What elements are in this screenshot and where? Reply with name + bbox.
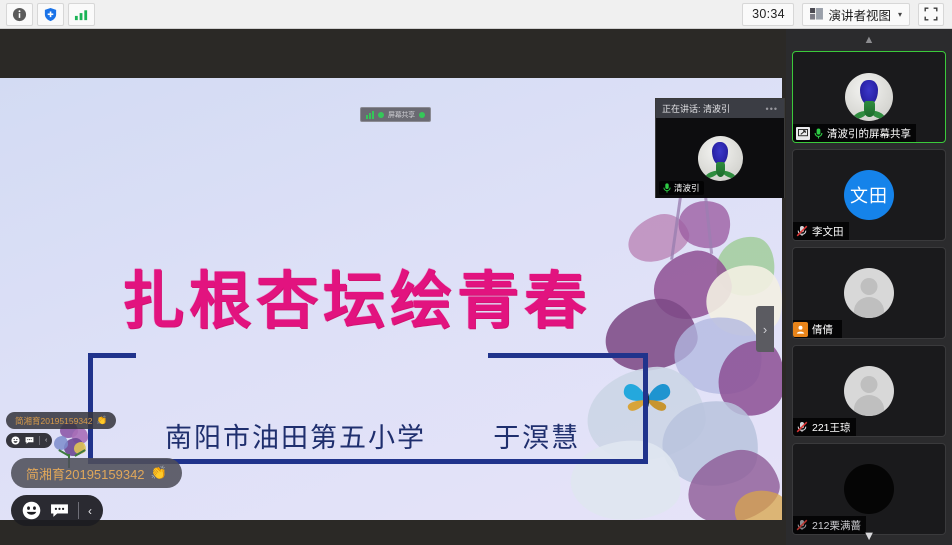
speaker-view-icon: [810, 8, 823, 20]
share-panel-expand-button[interactable]: ›: [756, 306, 774, 352]
collapse-chevron-icon[interactable]: ‹: [45, 437, 47, 444]
pip-speaker-name: 清波引: [674, 182, 700, 194]
hyacinth-photo-avatar: [845, 73, 893, 121]
default-person-avatar: [844, 268, 894, 318]
participant-filmstrip: ▲ 清波引的屏幕共享: [786, 29, 952, 545]
fullscreen-button[interactable]: [918, 3, 944, 26]
view-mode-label: 演讲者视图: [828, 5, 891, 24]
slide-school-name: 南阳市油田第五小学: [165, 423, 426, 454]
toolbar-left-group: [0, 3, 95, 26]
participant-label: 清波引的屏幕共享: [793, 124, 916, 142]
toolbar-right-group: 30:34 演讲者视图 ▾: [742, 3, 952, 26]
smiley-icon[interactable]: [11, 436, 20, 445]
smiley-icon[interactable]: [22, 501, 41, 520]
status-dot-icon: [419, 112, 425, 118]
dark-video-avatar: [844, 464, 894, 514]
chat-bubble-large[interactable]: 简湘育20195159342 👏: [11, 458, 182, 488]
top-toolbar: 30:34 演讲者视图 ▾: [0, 0, 952, 29]
mic-on-icon: [663, 183, 671, 193]
filmstrip-scroll-down-button[interactable]: ▼: [786, 528, 952, 543]
screen-share-icon: [796, 127, 810, 140]
mic-on-icon: [814, 128, 823, 139]
clap-emoji-icon: 👏: [97, 415, 108, 426]
participant-name: 李文田: [812, 224, 844, 239]
meeting-window: 30:34 演讲者视图 ▾: [0, 0, 952, 545]
pip-more-icon[interactable]: •••: [766, 104, 778, 114]
comment-icon[interactable]: [25, 436, 34, 445]
meeting-timer: 30:34: [742, 3, 794, 26]
participant-name: 清波引的屏幕共享: [827, 126, 911, 141]
pip-header: 正在讲话: 清波引 •••: [656, 99, 784, 118]
participant-tile[interactable]: 212栗满蔷: [792, 443, 946, 535]
chat-large-text: 简湘育20195159342: [26, 464, 145, 483]
pip-video-body: 清波引: [656, 118, 784, 198]
speaker-pip-panel[interactable]: 正在讲话: 清波引 ••• 清波引: [655, 98, 785, 198]
fullscreen-icon: [924, 7, 938, 21]
chat-toolbar-small[interactable]: ‹: [6, 433, 52, 448]
participant-label: 李文田: [793, 222, 849, 240]
participant-tile[interactable]: 清波引的屏幕共享: [792, 51, 946, 143]
clap-emoji-icon: 👏: [151, 465, 167, 481]
participant-label: 倩倩: [793, 320, 842, 338]
shield-plus-icon: [43, 7, 58, 22]
chat-small-text: 简湘育20195159342: [15, 415, 93, 427]
signal-bars-icon: [366, 111, 374, 119]
slide-subtitle: 南阳市油田第五小学 于溟慧: [165, 416, 580, 455]
hyacinth-photo-avatar: [698, 136, 743, 181]
network-bars-icon: [74, 8, 89, 21]
view-mode-selector[interactable]: 演讲者视图 ▾: [802, 3, 910, 26]
mic-muted-icon: [796, 225, 808, 237]
network-signal-button[interactable]: [68, 3, 95, 26]
participant-label: 221王琼: [793, 418, 856, 436]
filmstrip-scroll-up-button[interactable]: ▲: [786, 29, 952, 51]
default-person-avatar: [844, 366, 894, 416]
share-status-floating-toolbar[interactable]: 屏幕共享: [360, 107, 431, 122]
chat-toolbar-large[interactable]: ‹: [11, 495, 103, 526]
initials-avatar: 文田: [844, 170, 894, 220]
collapse-chevron-icon[interactable]: ‹: [88, 504, 92, 518]
participant-name: 221王琼: [812, 420, 851, 435]
slide-title: 扎根杏坛绘青春: [122, 270, 652, 332]
pip-name-badge: 清波引: [659, 181, 704, 195]
mic-muted-icon: [796, 421, 808, 433]
butterfly-icon: [538, 518, 586, 520]
participant-tile[interactable]: 221王琼: [792, 345, 946, 437]
toolbar-divider: [39, 436, 40, 445]
person-badge-orange-icon: [793, 322, 808, 337]
info-icon-button[interactable]: [6, 3, 33, 26]
toolbar-divider: [78, 502, 79, 519]
shield-icon-button[interactable]: [37, 3, 64, 26]
participant-name: 倩倩: [812, 322, 837, 337]
participant-tile[interactable]: 文田 李文田: [792, 149, 946, 241]
slide-presenter-name: 于溟慧: [493, 423, 580, 454]
share-status-label: 屏幕共享: [388, 110, 415, 120]
chevron-down-icon: ▾: [898, 10, 902, 19]
info-icon: [12, 7, 27, 22]
chat-bubble-small[interactable]: 简湘育20195159342 👏: [6, 412, 116, 429]
comment-icon[interactable]: [50, 502, 69, 519]
participant-tile[interactable]: 倩倩: [792, 247, 946, 339]
record-dot-icon: [378, 112, 384, 118]
pip-speaking-label: 正在讲话: 清波引: [662, 102, 730, 115]
